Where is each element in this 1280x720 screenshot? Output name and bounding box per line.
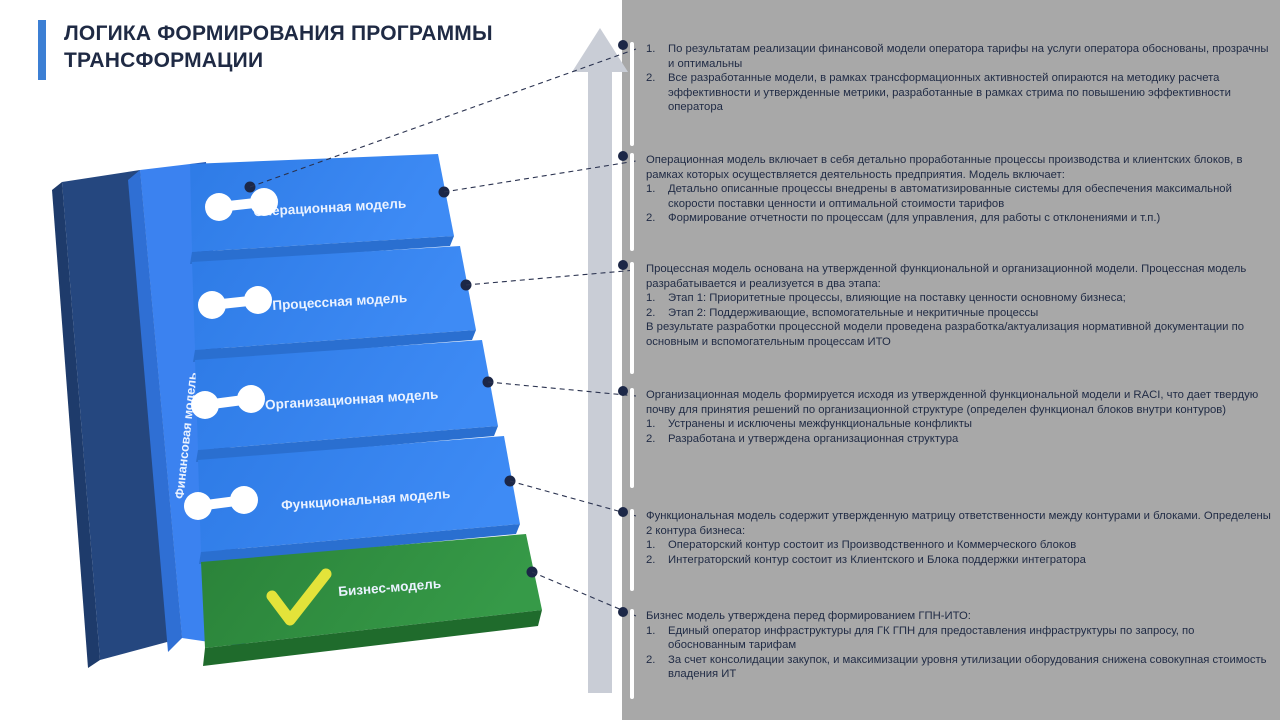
- list-item-text: Разработана и утверждена организационная…: [668, 432, 1272, 447]
- list-item-text: Этап 2: Поддерживающие, вспомогательные …: [668, 306, 1272, 321]
- note-rail: [630, 153, 634, 251]
- list-item: 1. Единый оператор инфраструктуры для ГК…: [646, 624, 1272, 653]
- note-rail: [630, 388, 634, 488]
- slide-canvas: ЛОГИКА ФОРМИРОВАНИЯ ПРОГРАММЫ ТРАНСФОРМА…: [0, 0, 1280, 720]
- list-item-text: Устранены и исключены межфункциональные …: [668, 417, 1272, 432]
- list-item: 2. Интеграторский контур состоит из Клие…: [646, 553, 1272, 568]
- list-item: 2. За счет консолидации закупок, и макси…: [646, 653, 1272, 682]
- list-item-number: 1.: [646, 42, 668, 71]
- note-rail: [630, 42, 634, 146]
- list-item: 2. Разработана и утверждена организацион…: [646, 432, 1272, 447]
- list-item: 2. Все разработанные модели, в рамках тр…: [646, 71, 1272, 115]
- list-item-text: Формирование отчетности по процессам (дл…: [668, 211, 1272, 226]
- note-list: 1. Операторский контур состоит из Произв…: [646, 538, 1272, 567]
- note-body: Функциональная модель содержит утвержден…: [646, 509, 1272, 591]
- note-lead-text: Организационная модель формируется исход…: [646, 388, 1272, 417]
- note-rail: [630, 609, 634, 699]
- tier-anchor-dot-3: [505, 476, 516, 487]
- list-item: 1. Устранены и исключены межфункциональн…: [646, 417, 1272, 432]
- tier-anchor-dot-1: [461, 280, 472, 291]
- title-text: ЛОГИКА ФОРМИРОВАНИЯ ПРОГРАММЫ ТРАНСФОРМА…: [64, 20, 578, 80]
- note-body: Операционная модель включает в себя дета…: [646, 153, 1272, 251]
- list-item-number: 2.: [646, 306, 668, 321]
- note-anchor-dot: [618, 151, 628, 161]
- note-lead-text: Процессная модель основана на утвержденн…: [646, 262, 1272, 291]
- list-item: 2. Этап 2: Поддерживающие, вспомогательн…: [646, 306, 1272, 321]
- tier-anchor-dot-2: [483, 377, 494, 388]
- list-item-number: 1.: [646, 538, 668, 553]
- list-item-number: 1.: [646, 624, 668, 653]
- note-list: 1. По результатам реализации финансовой …: [646, 42, 1272, 115]
- list-item-number: 2.: [646, 653, 668, 682]
- pyramid-diagram: Финансовая модель Операционная модель Пр…: [40, 140, 600, 670]
- list-item-text: Этап 1: Приоритетные процессы, влияющие …: [668, 291, 1272, 306]
- list-item-text: По результатам реализации финансовой мод…: [668, 42, 1272, 71]
- note-block-financial: 1. По результатам реализации финансовой …: [630, 42, 1272, 146]
- list-item: 1. По результатам реализации финансовой …: [646, 42, 1272, 71]
- title-accent-bar: [38, 20, 46, 80]
- note-rail: [630, 509, 634, 591]
- tier-anchor-dot-4: [527, 567, 538, 578]
- note-anchor-dot: [618, 40, 628, 50]
- list-item: 2. Формирование отчетности по процессам …: [646, 211, 1272, 226]
- list-item-number: 1.: [646, 182, 668, 211]
- list-item-number: 2.: [646, 71, 668, 115]
- note-anchor-dot: [618, 507, 628, 517]
- note-list: 1. Детально описанные процессы внедрены …: [646, 182, 1272, 226]
- tier-anchor-dot-0a: [245, 182, 256, 193]
- note-lead-text: Бизнес модель утверждена перед формирова…: [646, 609, 1272, 624]
- list-item: 1. Этап 1: Приоритетные процессы, влияющ…: [646, 291, 1272, 306]
- note-block-functional: Функциональная модель содержит утвержден…: [630, 509, 1272, 591]
- list-item: 1. Детально описанные процессы внедрены …: [646, 182, 1272, 211]
- list-item-text: Детально описанные процессы внедрены в а…: [668, 182, 1272, 211]
- tier-anchor-dot-0b: [439, 187, 450, 198]
- list-item-text: Все разработанные модели, в рамках транс…: [668, 71, 1272, 115]
- note-body: Процессная модель основана на утвержденн…: [646, 262, 1272, 374]
- note-anchor-dot: [618, 386, 628, 396]
- page-title: ЛОГИКА ФОРМИРОВАНИЯ ПРОГРАММЫ ТРАНСФОРМА…: [38, 20, 578, 80]
- note-body: Организационная модель формируется исход…: [646, 388, 1272, 488]
- list-item-text: Единый оператор инфраструктуры для ГК ГП…: [668, 624, 1272, 653]
- note-anchor-dot: [618, 260, 628, 270]
- list-item-number: 2.: [646, 553, 668, 568]
- note-block-process: Процессная модель основана на утвержденн…: [630, 262, 1272, 374]
- note-block-organizational: Организационная модель формируется исход…: [630, 388, 1272, 488]
- list-item-text: Интеграторский контур состоит из Клиентс…: [668, 553, 1272, 568]
- list-item-number: 2.: [646, 211, 668, 226]
- note-lead-text: Операционная модель включает в себя дета…: [646, 153, 1272, 182]
- note-list: 1. Устранены и исключены межфункциональн…: [646, 417, 1272, 446]
- list-item-number: 1.: [646, 417, 668, 432]
- note-body: Бизнес модель утверждена перед формирова…: [646, 609, 1272, 699]
- list-item-number: 2.: [646, 432, 668, 447]
- note-list: 1. Этап 1: Приоритетные процессы, влияющ…: [646, 291, 1272, 320]
- list-item-text: Операторский контур состоит из Производс…: [668, 538, 1272, 553]
- note-rail: [630, 262, 634, 374]
- note-block-operational: Операционная модель включает в себя дета…: [630, 153, 1272, 251]
- list-item-number: 1.: [646, 291, 668, 306]
- note-lead-text: Функциональная модель содержит утвержден…: [646, 509, 1272, 538]
- list-item-text: За счет консолидации закупок, и максимиз…: [668, 653, 1272, 682]
- list-item: 1. Операторский контур состоит из Произв…: [646, 538, 1272, 553]
- note-list: 1. Единый оператор инфраструктуры для ГК…: [646, 624, 1272, 682]
- note-block-business: Бизнес модель утверждена перед формирова…: [630, 609, 1272, 699]
- tier-operational[interactable]: Операционная модель: [190, 154, 454, 264]
- note-anchor-dot: [618, 607, 628, 617]
- note-tail-text: В результате разработки процессной модел…: [646, 320, 1272, 349]
- note-body: 1. По результатам реализации финансовой …: [646, 42, 1272, 146]
